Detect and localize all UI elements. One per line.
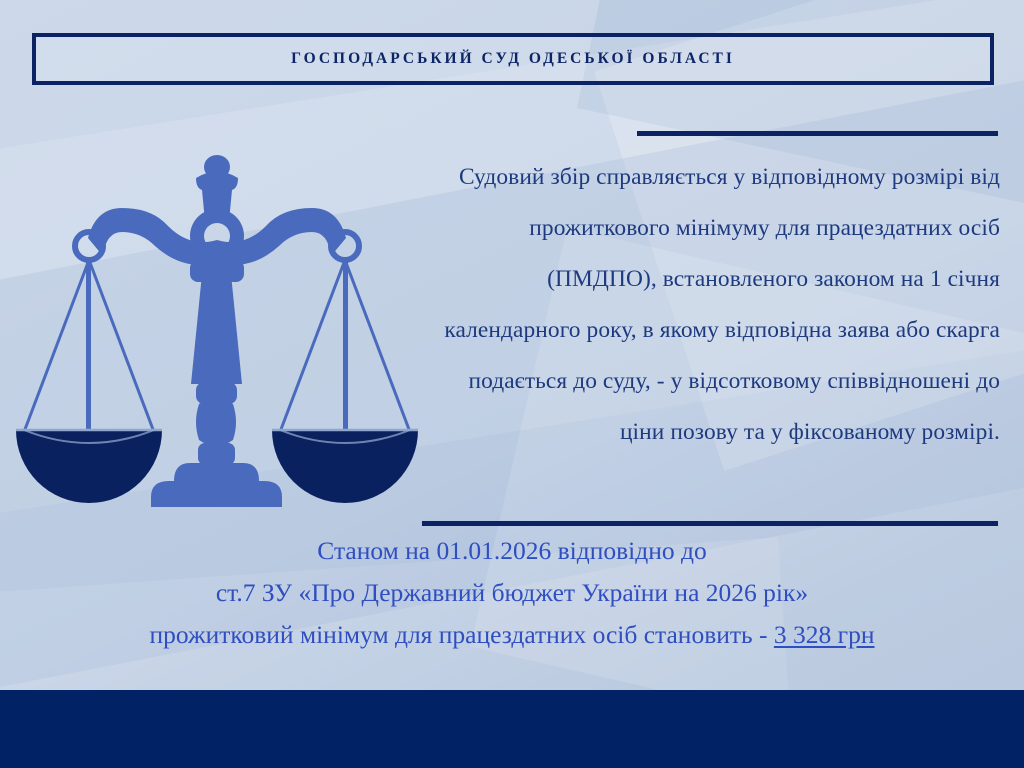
page-title: ГОСПОДАРСЬКИЙ СУД ОДЕСЬКОЇ ОБЛАСТІ [291,50,735,68]
header-title-box: ГОСПОДАРСЬКИЙ СУД ОДЕСЬКОЇ ОБЛАСТІ [32,33,994,85]
bottom-line-1: Станом на 01.01.2026 відповідно до [0,530,1024,572]
scales-of-justice-icon [6,142,426,514]
bottom-line-3-prefix: прожитковий мінімум для працездатних осі… [149,620,773,649]
amount-value: 3 328 грн [774,620,875,649]
bottom-note-block: Станом на 01.01.2026 відповідно до ст.7 … [0,530,1024,656]
footer-band [0,690,1024,768]
divider-rule-middle [422,521,998,526]
divider-rule-top [637,131,998,136]
bottom-line-2: ст.7 ЗУ «Про Державний бюджет України на… [0,572,1024,614]
main-paragraph-text: Судовий збір справляється у відповідному… [430,152,1000,458]
bottom-line-3: прожитковий мінімум для працездатних осі… [0,614,1024,656]
slide-canvas: ГОСПОДАРСЬКИЙ СУД ОДЕСЬКОЇ ОБЛАСТІ [0,0,1024,768]
